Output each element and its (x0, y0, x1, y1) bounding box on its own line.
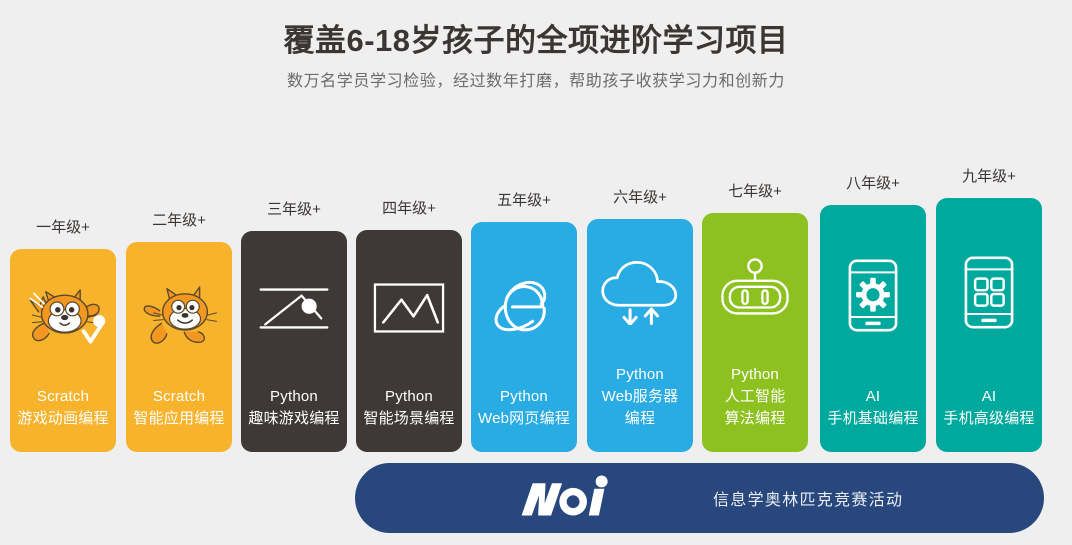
course-card-line: 智能场景编程 (360, 408, 458, 430)
course-card-line: Python (591, 364, 689, 386)
course-card-line: 智能应用编程 (130, 408, 228, 430)
grade-label: 四年级+ (382, 201, 436, 216)
course-card-line: 人工智能 (706, 386, 804, 408)
mountain-picture-icon (356, 230, 462, 386)
noi-banner[interactable]: 信息学奥林匹克竞赛活动 (355, 463, 1044, 533)
course-card-line: Python (706, 364, 804, 386)
course-card-line: AI (824, 386, 922, 408)
course-card-body[interactable]: Scratch游戏动画编程 (10, 249, 116, 452)
course-card-text: Scratch智能应用编程 (126, 386, 232, 430)
grade-label: 六年级+ (613, 190, 667, 205)
course-card-text: AI手机基础编程 (820, 386, 926, 430)
robot-head-icon (702, 213, 808, 364)
course-card-body[interactable]: PythonWeb服务器编程 (587, 219, 693, 452)
course-card-body[interactable]: Scratch智能应用编程 (126, 242, 232, 452)
grade-label: 二年级+ (152, 213, 206, 228)
course-card-line: 手机基础编程 (824, 408, 922, 430)
course-card-text: Python智能场景编程 (356, 386, 462, 430)
course-card-body[interactable]: Python智能场景编程 (356, 230, 462, 452)
course-card-line: Web网页编程 (475, 408, 573, 430)
internet-explorer-e-icon (471, 222, 577, 386)
scratch-cat-jumping-icon (10, 249, 116, 386)
course-card-text: PythonWeb网页编程 (471, 386, 577, 430)
course-card-text: PythonWeb服务器编程 (587, 364, 693, 431)
course-card-line: 算法编程 (706, 408, 804, 430)
cloud-upload-download-icon (587, 219, 693, 364)
grade-label: 三年级+ (267, 202, 321, 217)
grade-label: 五年级+ (497, 193, 551, 208)
course-card-line: Python (245, 386, 343, 408)
course-card-line: 手机高级编程 (940, 408, 1038, 430)
phone-apps-grid-icon (936, 198, 1042, 386)
grade-label: 七年级+ (728, 184, 782, 199)
course-card-body[interactable]: AI手机高级编程 (936, 198, 1042, 452)
grade-label: 一年级+ (36, 220, 90, 235)
course-card-line: AI (940, 386, 1038, 408)
noi-logo-icon (517, 475, 609, 521)
course-card-text: AI手机高级编程 (936, 386, 1042, 430)
grade-label: 八年级+ (846, 176, 900, 191)
course-card-line: Scratch (130, 386, 228, 408)
course-card-line: 趣味游戏编程 (245, 408, 343, 430)
course-card-line: Python (360, 386, 458, 408)
course-card-body[interactable]: AI手机基础编程 (820, 205, 926, 452)
course-card-line: Python (475, 386, 573, 408)
phone-gear-icon (820, 205, 926, 386)
course-card-line: 编程 (591, 408, 689, 430)
course-card-line: 游戏动画编程 (14, 408, 112, 430)
grade-label: 九年级+ (962, 169, 1016, 184)
course-card-line: Scratch (14, 386, 112, 408)
course-card-body[interactable]: Python人工智能算法编程 (702, 213, 808, 452)
scratch-cat-running-icon (126, 242, 232, 386)
banner-text: 信息学奥林匹克竞赛活动 (713, 463, 903, 533)
course-card-text: Python人工智能算法编程 (702, 364, 808, 431)
course-card-body[interactable]: Python趣味游戏编程 (241, 231, 347, 452)
course-card-body[interactable]: PythonWeb网页编程 (471, 222, 577, 452)
slope-ball-icon (241, 231, 347, 386)
course-card-text: Scratch游戏动画编程 (10, 386, 116, 430)
infographic-canvas: 覆盖6-18岁孩子的全项进阶学习项目 数万名学员学习检验，经过数年打磨，帮助孩子… (0, 0, 1072, 545)
course-card-line: Web服务器 (591, 386, 689, 408)
course-card-text: Python趣味游戏编程 (241, 386, 347, 430)
